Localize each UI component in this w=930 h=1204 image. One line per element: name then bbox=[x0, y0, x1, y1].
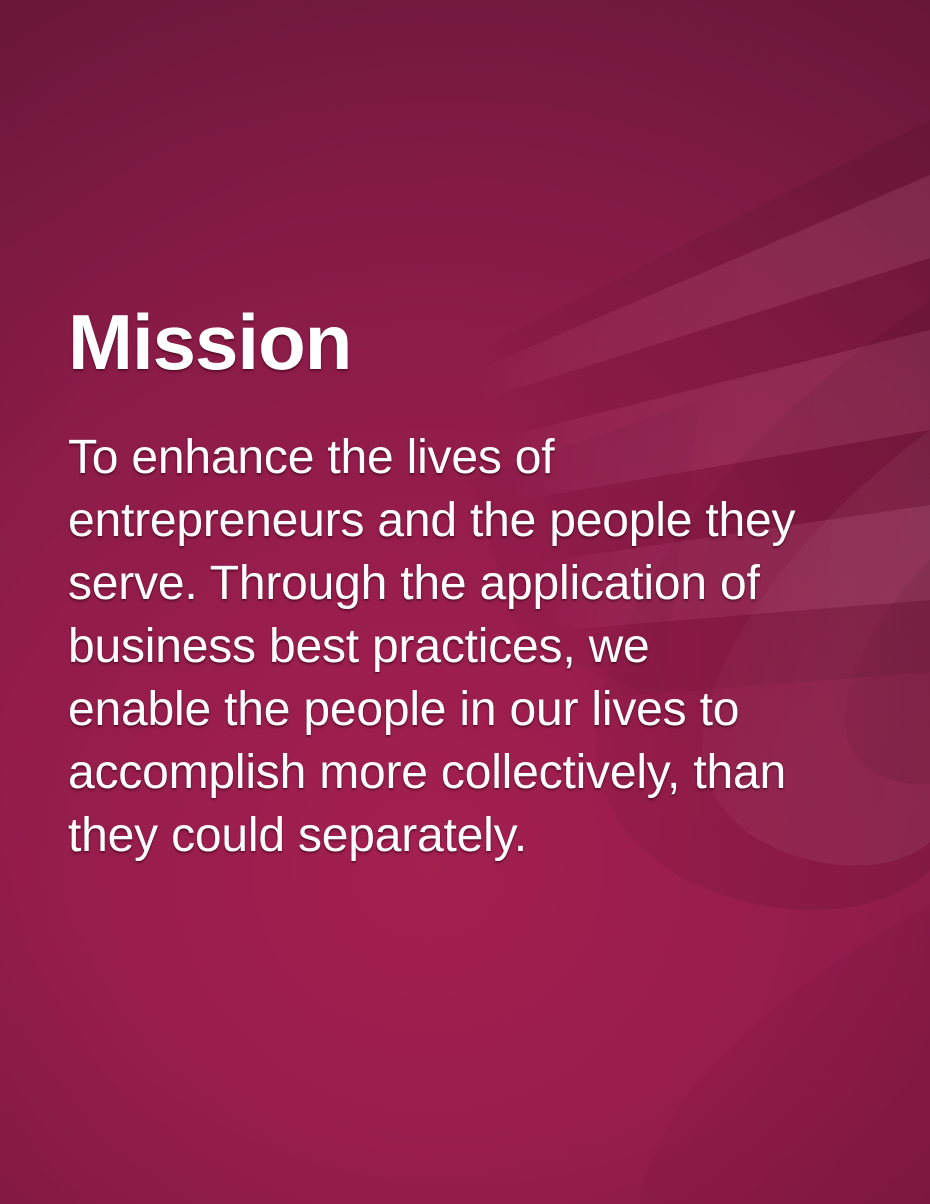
mission-line: serve. Through the application of bbox=[68, 552, 868, 615]
mission-statement-text: To enhance the lives of entrepreneurs an… bbox=[68, 388, 868, 867]
slide-content: Mission To enhance the lives of entrepre… bbox=[68, 296, 878, 867]
mission-slide: Mission To enhance the lives of entrepre… bbox=[0, 0, 930, 1204]
page-title: Mission bbox=[68, 296, 878, 388]
mission-line: entrepreneurs and the people they bbox=[68, 489, 868, 552]
mission-line: enable the people in our lives to bbox=[68, 678, 868, 741]
mission-line: they could separately. bbox=[68, 804, 868, 867]
mission-line: business best practices, we bbox=[68, 615, 868, 678]
mission-line: To enhance the lives of bbox=[68, 426, 868, 489]
mission-line: accomplish more collectively, than bbox=[68, 741, 868, 804]
